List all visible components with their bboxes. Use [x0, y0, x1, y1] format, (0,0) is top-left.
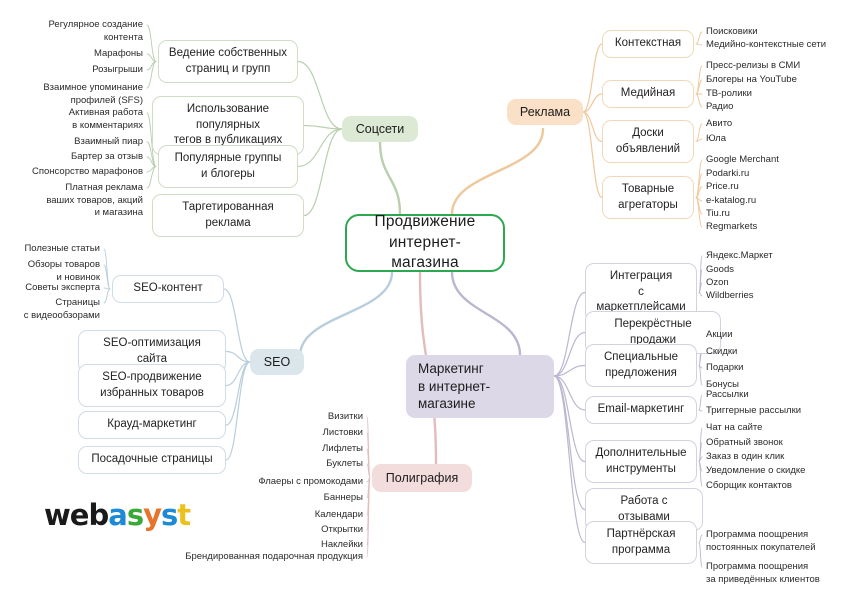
subnode-seo-0[interactable]: SEO-контент: [112, 275, 224, 303]
leaf-label: Авито: [706, 118, 732, 131]
leaf-label: Акции: [706, 329, 733, 342]
leaf-label: e-katalog.ru: [706, 195, 756, 208]
leaf-label: Взаимный пиар: [74, 136, 143, 149]
subnode-reklama-0[interactable]: Контекстная: [602, 30, 694, 58]
leaf-label: Рассылки: [706, 389, 749, 402]
leaf-label: Ozon: [706, 277, 729, 290]
logo-letter-0: w: [44, 498, 70, 532]
leaf-label: Активная работа в комментариях: [69, 107, 143, 132]
leaf-label: Wildberries: [706, 290, 754, 303]
leaf-label: Пресс-релизы в СМИ: [706, 60, 800, 73]
subnode-marketing-6[interactable]: Партнёрская программа: [585, 521, 697, 564]
leaf-label: Марафоны: [94, 48, 143, 61]
leaf-label: Буклеты: [326, 458, 363, 471]
leaf-label: Tiu.ru: [706, 208, 730, 221]
leaf-label: Поисковики: [706, 26, 758, 39]
leaf-label: Медийно-контекстные сети: [706, 39, 826, 52]
leaf-label: Взаимное упоминание профилей (SFS): [43, 82, 143, 107]
leaf-label: Радио: [706, 101, 733, 114]
leaf-label: Regmarkets: [706, 221, 757, 234]
logo-letter-7: t: [177, 498, 190, 532]
logo-letter-1: e: [70, 498, 89, 532]
leaf-label: Обратный звонок: [706, 437, 783, 450]
subnode-seo-3[interactable]: Крауд-маркетинг: [78, 411, 226, 439]
leaf-label: Goods: [706, 264, 734, 277]
subnode-socseti-2[interactable]: Популярные группы и блогеры: [158, 145, 298, 188]
subnode-seo-2[interactable]: SEO-продвижение избранных товаров: [78, 364, 226, 407]
leaf-label: Триггерные рассылки: [706, 405, 801, 418]
subnode-socseti-0[interactable]: Ведение собственных страниц и групп: [158, 40, 298, 83]
webasyst-logo: webasyst: [44, 498, 190, 532]
leaf-label: ТВ-ролики: [706, 88, 752, 101]
leaf-label: Podarki.ru: [706, 168, 749, 181]
logo-letter-2: b: [88, 498, 108, 532]
leaf-label: Google Merchant: [706, 154, 779, 167]
leaf-label: Сборщик контактов: [706, 480, 792, 493]
leaf-label: Открытки: [321, 524, 363, 537]
subnode-reklama-2[interactable]: Доски объявлений: [602, 120, 694, 163]
logo-letter-6: s: [161, 498, 177, 532]
leaf-label: Полезные статьи: [24, 243, 100, 256]
leaf-label: Обзоры товаров и новинок: [28, 259, 100, 284]
branch-node-marketing[interactable]: Маркетинг в интернет-магазине: [406, 355, 554, 418]
leaf-label: Брендированная подарочная продукция: [185, 551, 363, 564]
root-node: Продвижение интернет-магазина: [345, 214, 505, 272]
leaf-label: Заказ в один клик: [706, 451, 784, 464]
logo-letter-3: a: [108, 498, 127, 532]
leaf-label: Розыгрыши: [92, 64, 143, 77]
leaf-label: Уведомление о скидке: [706, 465, 805, 478]
subnode-socseti-3[interactable]: Таргетированная реклама: [152, 194, 304, 237]
branch-node-socseti[interactable]: Соцсети: [342, 116, 418, 142]
leaf-label: Календари: [315, 509, 363, 522]
leaf-label: Лифлеты: [322, 443, 363, 456]
branch-node-seo[interactable]: SEO: [250, 349, 304, 375]
subnode-marketing-2[interactable]: Специальные предложения: [585, 344, 697, 387]
subnode-seo-4[interactable]: Посадочные страницы: [78, 446, 226, 474]
leaf-label: Скидки: [706, 346, 737, 359]
leaf-label: Регулярное создание контента: [49, 19, 143, 44]
leaf-label: Программа поощрения за приведённых клиен…: [706, 561, 820, 586]
logo-letter-5: y: [143, 498, 161, 532]
leaf-label: Наклейки: [321, 539, 363, 552]
branch-node-poligrafia[interactable]: Полиграфия: [372, 464, 472, 492]
leaf-label: Платная реклама ваших товаров, акций и м…: [46, 182, 143, 220]
subnode-reklama-1[interactable]: Медийная: [602, 80, 694, 108]
leaf-label: Юла: [706, 133, 726, 146]
leaf-label: Баннеры: [324, 492, 363, 505]
branch-node-reklama[interactable]: Реклама: [507, 99, 583, 125]
leaf-label: Флаеры с промокодами: [258, 476, 363, 489]
leaf-label: Визитки: [328, 411, 363, 424]
subnode-marketing-3[interactable]: Email-маркетинг: [585, 396, 697, 424]
subnode-reklama-3[interactable]: Товарные агрегаторы: [602, 176, 694, 219]
logo-letter-4: s: [127, 498, 143, 532]
leaf-label: Программа поощрения постоянных покупател…: [706, 529, 816, 554]
leaf-label: Яндекс.Маркет: [706, 250, 773, 263]
subnode-marketing-4[interactable]: Дополнительные инструменты: [585, 440, 697, 483]
leaf-label: Бартер за отзыв: [71, 151, 143, 164]
leaf-label: Спонсорство марафонов: [32, 166, 143, 179]
leaf-label: Подарки: [706, 362, 743, 375]
leaf-label: Советы эксперта: [25, 282, 100, 295]
leaf-label: Price.ru: [706, 181, 739, 194]
leaf-label: Чат на сайте: [706, 422, 762, 435]
leaf-label: Страницы с видеообзорами: [24, 297, 100, 322]
leaf-label: Листовки: [323, 427, 363, 440]
leaf-label: Блогеры на YouTube: [706, 74, 797, 87]
